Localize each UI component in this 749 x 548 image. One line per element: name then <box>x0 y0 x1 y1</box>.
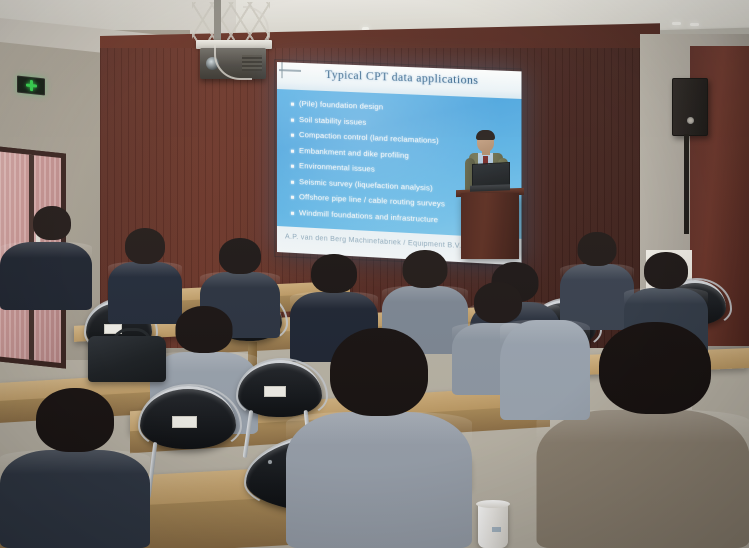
bullet-marker-icon <box>291 134 294 137</box>
wall-speaker <box>672 78 708 136</box>
person-head <box>33 206 71 240</box>
person-head <box>599 322 711 414</box>
chair-inventory-label <box>172 416 197 428</box>
person-head <box>403 250 448 288</box>
presentation-room-photo: Typical CPT data applications (Pile) fou… <box>0 0 749 548</box>
bullet-marker-icon <box>291 196 294 199</box>
audience-member-foreground <box>500 300 590 420</box>
bullet-marker-icon <box>291 211 294 214</box>
person-head <box>644 252 688 289</box>
slide-bullet-text: Environmental issues <box>299 162 375 174</box>
paper-cup[interactable] <box>478 503 508 548</box>
person-head <box>578 232 617 266</box>
slide-bullet-text: Offshore pipe line / cable routing surve… <box>299 193 445 208</box>
speaker-driver-icon <box>687 117 694 124</box>
person-head <box>219 238 261 274</box>
audience-member-foreground <box>0 388 150 548</box>
bullet-marker-icon <box>291 180 294 183</box>
person-body <box>286 412 472 548</box>
audience-member <box>0 206 92 310</box>
slide-bullet-text: Embankment and dike profiling <box>299 147 409 160</box>
presenter-hair <box>476 130 495 140</box>
lectern <box>461 193 519 259</box>
person-head <box>330 328 428 416</box>
chair-rivet <box>268 460 272 464</box>
slide-decor-line <box>281 62 283 78</box>
person-body <box>536 410 749 548</box>
slide-footer-text: A.P. van den Berg Machinefabriek / Equip… <box>285 233 462 250</box>
person-body <box>0 450 150 548</box>
slide-bullet-text: Compaction control (land reclamations) <box>299 131 439 145</box>
laptop-bag <box>88 336 166 382</box>
bullet-marker-icon <box>291 149 294 152</box>
ceiling-light-icon <box>672 22 681 25</box>
person-body <box>0 242 92 310</box>
audience-member-foreground <box>286 328 472 548</box>
person-body <box>500 320 590 420</box>
slide-bullet-text: Windmill foundations and infrastructure <box>299 209 438 224</box>
chair-inventory-label <box>264 386 286 397</box>
chair[interactable] <box>140 386 236 446</box>
ceiling-light-icon <box>690 23 699 26</box>
person-head <box>36 388 114 452</box>
cup-rim <box>476 500 510 508</box>
cup-label <box>492 527 501 532</box>
bullet-marker-icon <box>291 165 294 168</box>
person-head <box>311 254 357 293</box>
slide-title: Typical CPT data applications <box>325 69 513 89</box>
slide-bullet-text: (Pile) foundation design <box>299 100 383 112</box>
bullet-marker-icon <box>291 118 294 121</box>
slide-bullet: (Pile) foundation design <box>291 100 511 117</box>
emergency-exit-icon <box>17 76 45 96</box>
person-head <box>176 306 233 353</box>
slide-bullet-text: Seismic survey (liquefaction analysis) <box>299 178 433 193</box>
person-head <box>125 228 165 264</box>
speaker-bracket <box>684 134 689 234</box>
bullet-marker-icon <box>291 103 294 106</box>
slide-bullet-text: Soil stability issues <box>299 115 366 126</box>
